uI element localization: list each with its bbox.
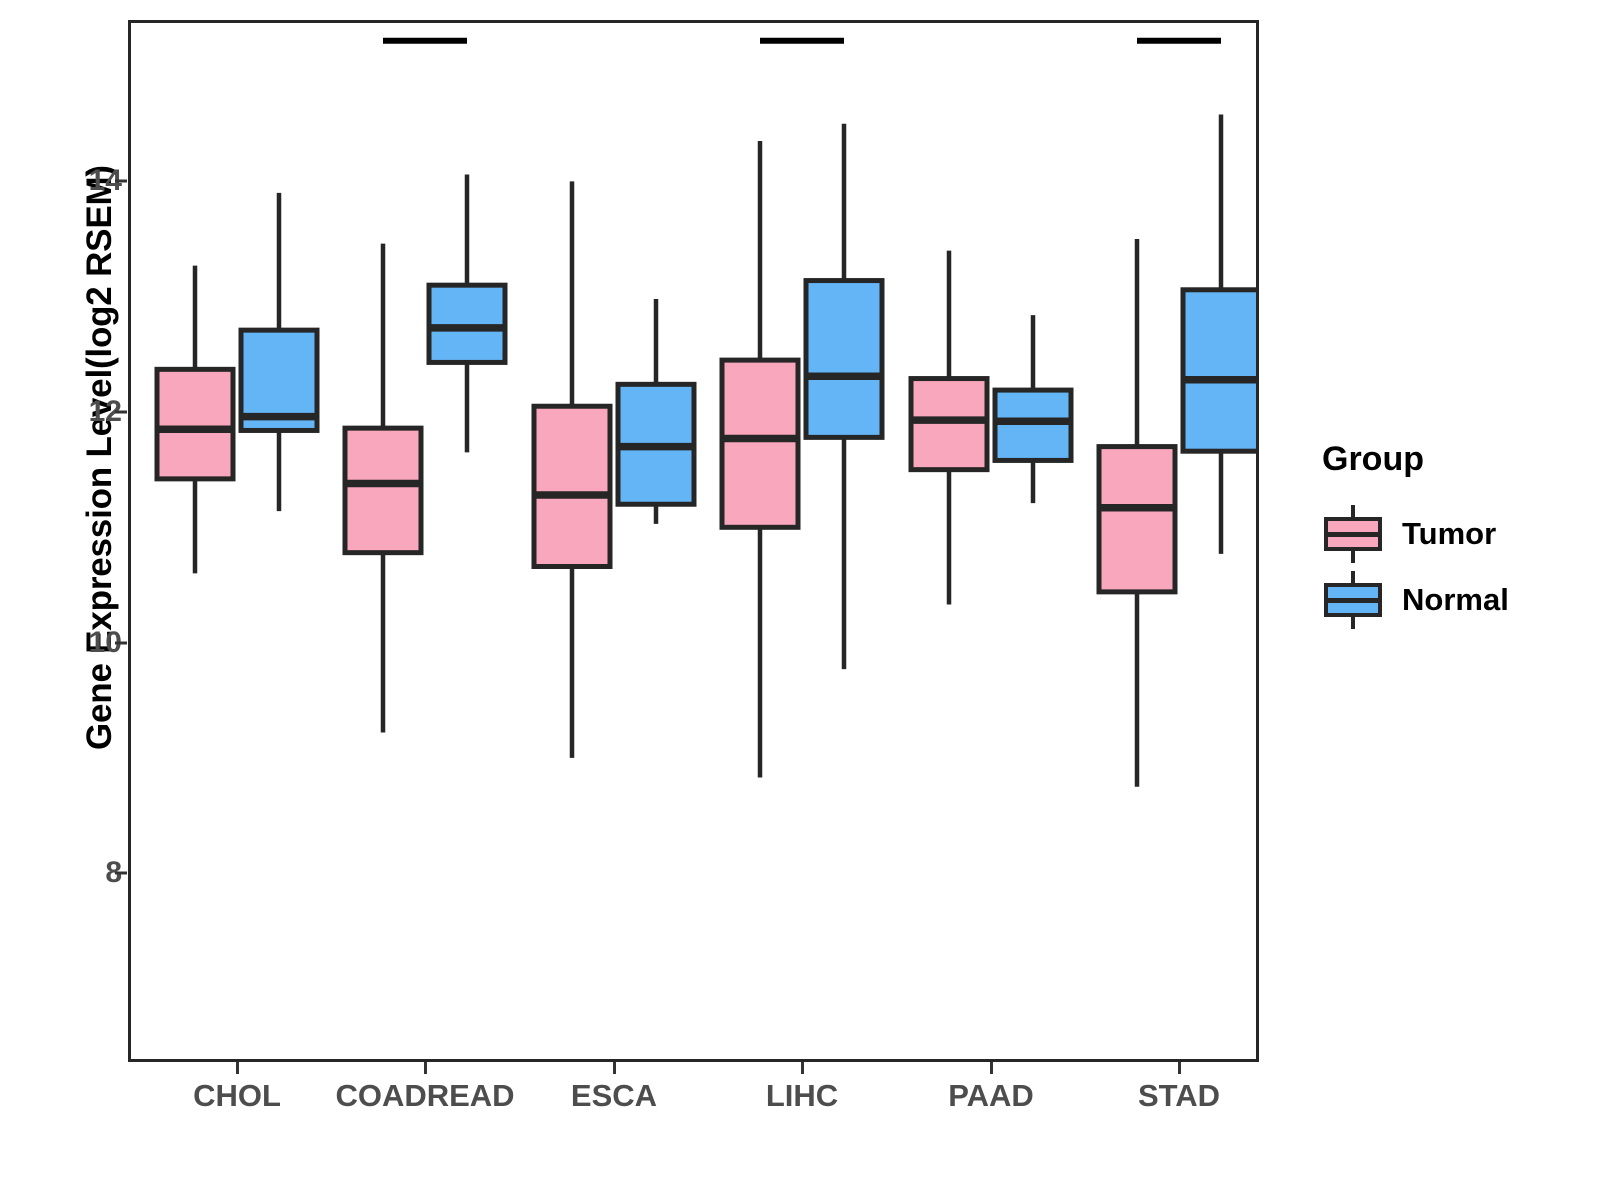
box-rect [157, 369, 233, 479]
x-tick-label-stad: STAD [1138, 1078, 1220, 1114]
y-tick-mark [115, 180, 127, 183]
plot-panel: ********** [128, 20, 1259, 1062]
legend-label: Normal [1402, 582, 1509, 618]
legend-item-normal[interactable]: Normal [1322, 567, 1592, 633]
x-tick-label-chol: CHOL [193, 1078, 281, 1114]
boxplot-canvas: ********** [131, 23, 1256, 1059]
y-tick-label: 12 [42, 395, 122, 429]
x-tick-mark [990, 1062, 993, 1074]
significance-lihc: ** [760, 23, 844, 41]
box-rect [722, 360, 798, 527]
box-normal-lihc [804, 124, 884, 669]
box-normal-paad [993, 315, 1073, 503]
box-normal-coadread [427, 174, 507, 452]
x-tick-label-lihc: LIHC [766, 1078, 838, 1114]
x-tick-label-esca: ESCA [571, 1078, 657, 1114]
x-tick-mark [801, 1062, 804, 1074]
significance-stad: **** [1137, 23, 1221, 41]
box-tumor-stad [1097, 239, 1177, 787]
legend-item-tumor[interactable]: Tumor [1322, 501, 1592, 567]
significance-label: **** [1148, 23, 1211, 40]
x-tick-mark [613, 1062, 616, 1074]
legend-key-tumor-icon [1322, 503, 1384, 565]
box-tumor-coadread [343, 244, 423, 733]
legend-median [1324, 532, 1382, 537]
y-tick-label: 8 [42, 856, 122, 890]
legend-title: Group [1322, 440, 1592, 479]
box-rect [1099, 447, 1175, 592]
box-rect [429, 285, 505, 362]
legend: Group TumorNormal [1322, 440, 1592, 633]
legend-entries: TumorNormal [1322, 501, 1592, 633]
x-tick-label-coadread: COADREAD [335, 1078, 514, 1114]
box-tumor-esca [532, 181, 612, 758]
box-rect [806, 281, 882, 438]
x-tick-mark [236, 1062, 239, 1074]
significance-label: **** [394, 23, 457, 40]
significance-label: ** [786, 23, 818, 40]
x-tick-label-paad: PAAD [948, 1078, 1034, 1114]
y-tick-label: 10 [42, 626, 122, 660]
significance-coadread: **** [383, 23, 467, 41]
y-tick-mark [115, 641, 127, 644]
y-tick-mark [115, 872, 127, 875]
box-rect [345, 428, 421, 553]
x-tick-mark [424, 1062, 427, 1074]
legend-label: Tumor [1402, 516, 1496, 552]
box-tumor-paad [909, 251, 989, 605]
box-tumor-lihc [720, 141, 800, 777]
y-tick-label: 14 [42, 164, 122, 198]
legend-median [1324, 598, 1382, 603]
box-rect [1183, 290, 1256, 451]
box-tumor-chol [155, 266, 235, 574]
box-rect [534, 406, 610, 566]
box-normal-chol [239, 193, 319, 511]
box-normal-esca [616, 299, 696, 524]
box-rect [995, 390, 1071, 460]
box-rect [911, 379, 987, 470]
legend-key-normal-icon [1322, 569, 1384, 631]
chart-root: Gene Expression Level(log2 RSEM) 8101214… [0, 0, 1600, 1200]
box-normal-stad [1181, 115, 1256, 554]
y-axis-title: Gene Expression Level(log2 RSEM) [80, 190, 120, 750]
y-tick-mark [115, 411, 127, 414]
x-tick-mark [1178, 1062, 1181, 1074]
